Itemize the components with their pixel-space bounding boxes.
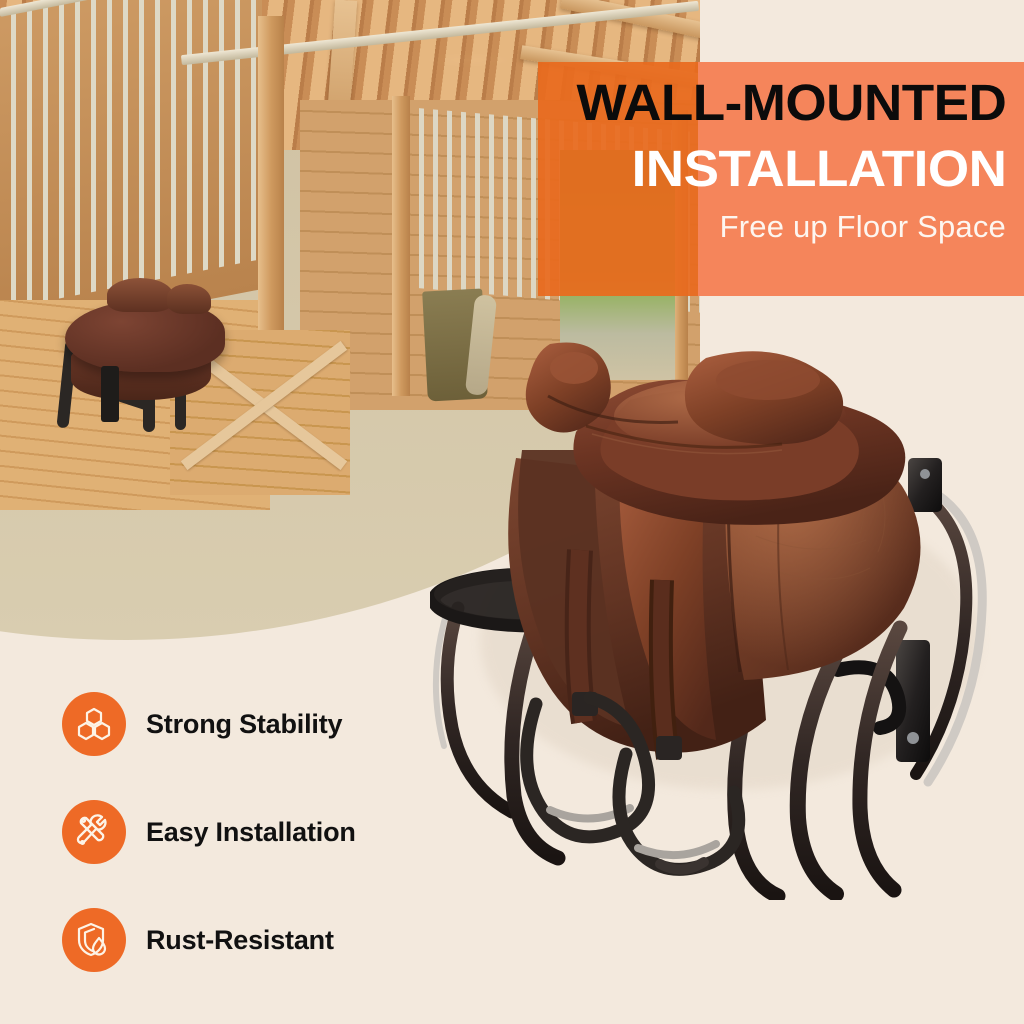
feature-icon-badge <box>62 800 126 864</box>
stall-bars-left <box>0 0 262 310</box>
wall-mounted-saddle-inset <box>55 270 240 445</box>
feature-icon-badge <box>62 692 126 756</box>
feature-list: Strong Stability Easy Installation <box>62 692 482 972</box>
subheadline: Free up Floor Space <box>720 209 1006 245</box>
honeycomb-icon <box>75 705 113 743</box>
feature-item-easy-installation: Easy Installation <box>62 800 482 864</box>
product-saddle-on-rack <box>430 340 1024 900</box>
feature-item-rust-resistant: Rust-Resistant <box>62 908 482 972</box>
feature-icon-badge <box>62 908 126 972</box>
wrench-screwdriver-icon <box>75 813 113 851</box>
marketing-image-canvas: WALL-MOUNTED INSTALLATION Free up Floor … <box>0 0 1024 1024</box>
feature-item-strong-stability: Strong Stability <box>62 692 482 756</box>
saddle-rack-illustration <box>430 340 1024 900</box>
headline-banner: WALL-MOUNTED INSTALLATION Free up Floor … <box>538 62 1024 296</box>
headline-line-2: INSTALLATION <box>631 140 1006 197</box>
headline-line-1: WALL-MOUNTED <box>576 76 1006 130</box>
feature-label: Easy Installation <box>146 817 356 848</box>
shield-droplet-icon <box>75 921 113 959</box>
feature-label: Strong Stability <box>146 709 342 740</box>
stall-post <box>392 96 410 396</box>
feature-label: Rust-Resistant <box>146 925 334 956</box>
